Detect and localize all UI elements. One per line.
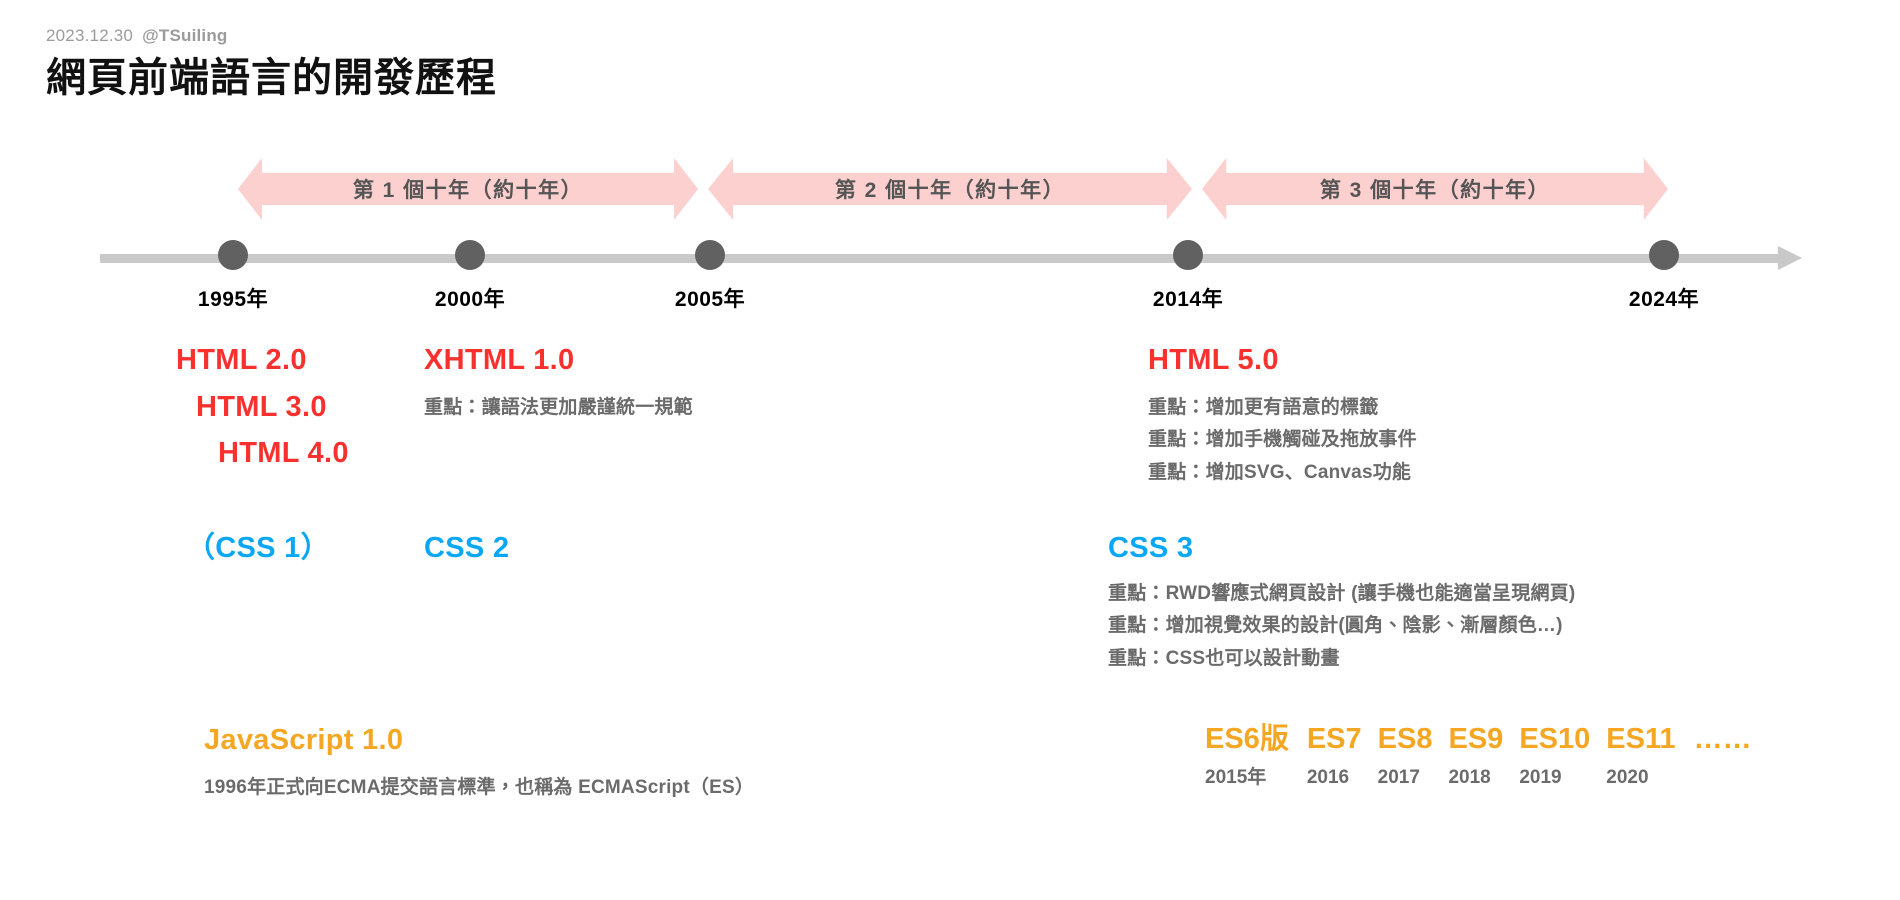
ecmascript-version-cell: ES6版2015年 [1205,722,1289,790]
timeline-year-label: 2024年 [1629,283,1699,313]
xhtml-note: 重點：讓語法更加嚴謹統一規範 [424,392,693,425]
ecmascript-version-name: ES6版 [1205,722,1289,757]
decade-label: 第 2 個十年（約十年） [835,174,1065,204]
block-javascript: JavaScript 1.0 1996年正式向ECMA提交語言標準，也稱為 EC… [204,722,754,804]
ecmascript-version-name: ES8 [1378,722,1433,757]
css3-note: 重點：增加視覺效果的設計(圓角、陰影、漸層顏色…) [1108,610,1575,643]
block-css2: CSS 2 [424,530,509,568]
ecmascript-version-cell: ES82017 [1378,722,1433,790]
html5-title: HTML 5.0 [1148,342,1417,380]
ecmascript-ellipsis: …… [1694,722,1752,757]
css2-title: CSS 2 [424,530,509,568]
axis-arrowhead-icon [1778,246,1802,270]
block-css3: CSS 3 重點：RWD響應式網頁設計 (讓手機也能適當呈現網頁) 重點：增加視… [1108,530,1575,676]
block-html5: HTML 5.0 重點：增加更有語意的標籤 重點：增加手機觸碰及拖放事件 重點：… [1148,342,1417,490]
ecmascript-version-year: 2017 [1378,767,1420,790]
decade-label: 第 3 個十年（約十年） [1320,174,1550,204]
ecmascript-version-cell: ES102019 [1519,722,1590,790]
timeline-year-label: 1995年 [198,283,268,313]
ecmascript-version-name: ES11 [1606,722,1675,757]
ecmascript-version-name: ES7 [1307,722,1362,757]
decade-arrow-2: 第 2 個十年（約十年） [708,158,1192,220]
html5-note: 重點：增加更有語意的標籤 [1148,392,1417,425]
ecmascript-version-cell: ES72016 [1307,722,1362,790]
ecmascript-version-row: ES6版2015年ES72016ES82017ES92018ES102019ES… [1205,722,1752,790]
ecmascript-version-year: 2019 [1519,767,1561,790]
ecmascript-version-name: ES10 [1519,722,1590,757]
block-ecmascript: ES6版2015年ES72016ES82017ES92018ES102019ES… [1205,722,1752,790]
html-version-label: HTML 2.0 [176,342,349,380]
css3-note: 重點：CSS也可以設計動畫 [1108,643,1575,676]
timeline-dot[interactable] [218,240,248,270]
html5-note: 重點：增加SVG、Canvas功能 [1148,457,1417,490]
decade-label: 第 1 個十年（約十年） [353,174,583,204]
axis-line [100,254,1780,263]
timeline-year-label: 2014年 [1153,283,1223,313]
xhtml-title: XHTML 1.0 [424,342,693,380]
timeline-year-label: 2005年 [675,283,745,313]
html-version-label: HTML 4.0 [218,435,349,473]
timeline-dot[interactable] [1649,240,1679,270]
block-css1: （CSS 1） [186,530,330,568]
meta-line: 2023.12.30@TSuiling [46,26,1246,46]
ecmascript-version-year: 2018 [1448,767,1490,790]
page-header: 2023.12.30@TSuiling 網頁前端語言的開發歷程 [46,26,1246,103]
author-handle: @TSuiling [142,26,227,45]
block-html-early: HTML 2.0 HTML 3.0 HTML 4.0 [176,342,349,482]
publish-date: 2023.12.30 [46,26,133,45]
ecmascript-version-year: 2020 [1606,767,1648,790]
timeline-dot[interactable] [695,240,725,270]
decade-band: 第 1 個十年（約十年）第 2 個十年（約十年）第 3 個十年（約十年） [0,158,1900,220]
ecmascript-version-cell: ES112020 [1606,722,1675,790]
css3-note: 重點：RWD響應式網頁設計 (讓手機也能適當呈現網頁) [1108,578,1575,611]
timeline-year-label: 2000年 [435,283,505,313]
page-title: 網頁前端語言的開發歷程 [46,53,1246,103]
javascript-note: 1996年正式向ECMA提交語言標準，也稱為 ECMAScript（ES） [204,772,754,805]
ecmascript-version-name: ES9 [1448,722,1503,757]
ecmascript-version-year: 2015年 [1205,767,1266,790]
ecmascript-version-cell: ES92018 [1448,722,1503,790]
decade-arrow-1: 第 1 個十年（約十年） [238,158,698,220]
block-xhtml: XHTML 1.0 重點：讓語法更加嚴謹統一規範 [424,342,693,424]
css3-title: CSS 3 [1108,530,1575,568]
ecmascript-version-year: 2016 [1307,767,1349,790]
decade-arrow-3: 第 3 個十年（約十年） [1202,158,1668,220]
timeline-dot[interactable] [455,240,485,270]
javascript-title: JavaScript 1.0 [204,722,754,760]
timeline-dot[interactable] [1173,240,1203,270]
html-version-label: HTML 3.0 [196,389,349,427]
css1-title: （CSS 1） [186,530,330,568]
html5-note: 重點：增加手機觸碰及拖放事件 [1148,424,1417,457]
timeline-axis: 1995年2000年2005年2014年2024年 [0,243,1900,283]
